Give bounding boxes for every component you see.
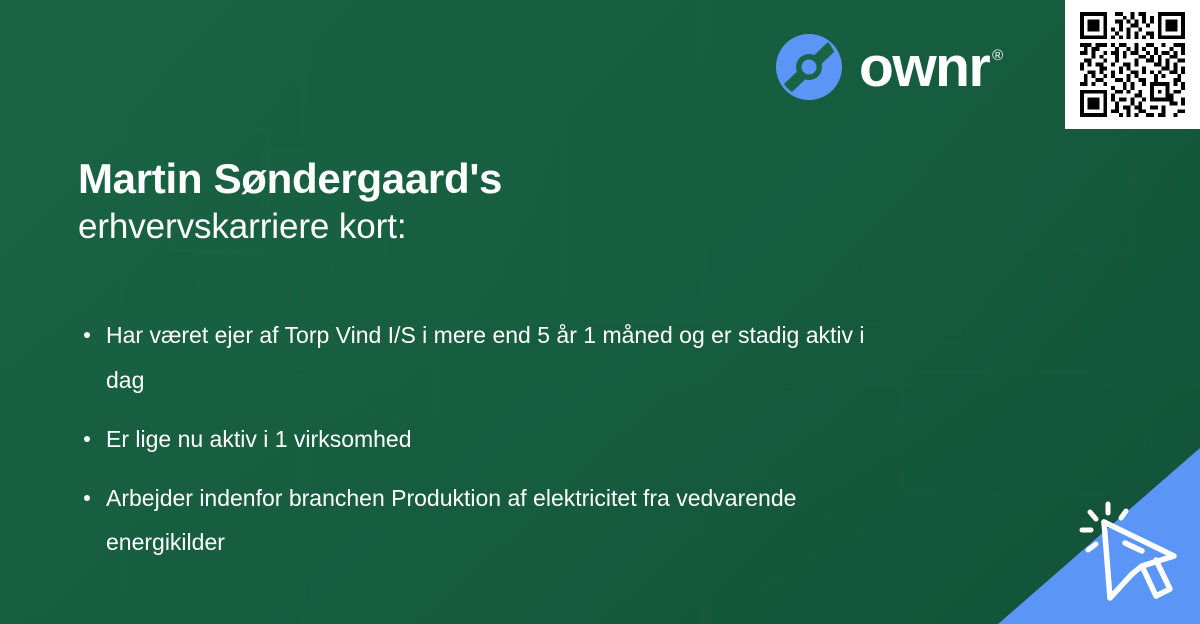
bullet-dot-icon bbox=[84, 436, 90, 442]
brand-wordmark: ownr ® bbox=[859, 40, 1003, 94]
registered-trademark-icon: ® bbox=[992, 48, 1003, 63]
list-item: Arbejder indenfor branchen Produktion af… bbox=[80, 476, 880, 566]
qr-code-icon[interactable] bbox=[1076, 8, 1189, 121]
career-facts-list: Har været ejer af Torp Vind I/S i mere e… bbox=[80, 313, 880, 565]
bullet-dot-icon bbox=[84, 332, 90, 338]
career-card: ownr ® bbox=[0, 0, 1200, 624]
page-title: Martin Søndergaard's erhvervskarriere ko… bbox=[78, 152, 502, 250]
brand-wordmark-text: ownr bbox=[859, 40, 989, 94]
list-item-text: Har været ejer af Torp Vind I/S i mere e… bbox=[106, 322, 865, 393]
background-sofa bbox=[900, 370, 1146, 496]
page-title-line-1: Martin Søndergaard's bbox=[78, 152, 502, 205]
background-lamp-shade bbox=[862, 248, 940, 296]
background-lamp-pole bbox=[893, 288, 899, 364]
list-item: Har været ejer af Torp Vind I/S i mere e… bbox=[80, 313, 880, 403]
page-title-line-2: erhvervskarriere kort: bbox=[78, 205, 502, 250]
list-item-text: Arbejder indenfor branchen Produktion af… bbox=[106, 485, 796, 556]
qr-code-panel[interactable] bbox=[1065, 0, 1200, 129]
brand-lockup: ownr ® bbox=[776, 34, 1003, 100]
list-item: Er lige nu aktiv i 1 virksomhed bbox=[80, 417, 880, 462]
list-item-text: Er lige nu aktiv i 1 virksomhed bbox=[106, 426, 412, 452]
bullet-dot-icon bbox=[84, 495, 90, 501]
ownr-swirl-logo-icon bbox=[776, 34, 842, 100]
